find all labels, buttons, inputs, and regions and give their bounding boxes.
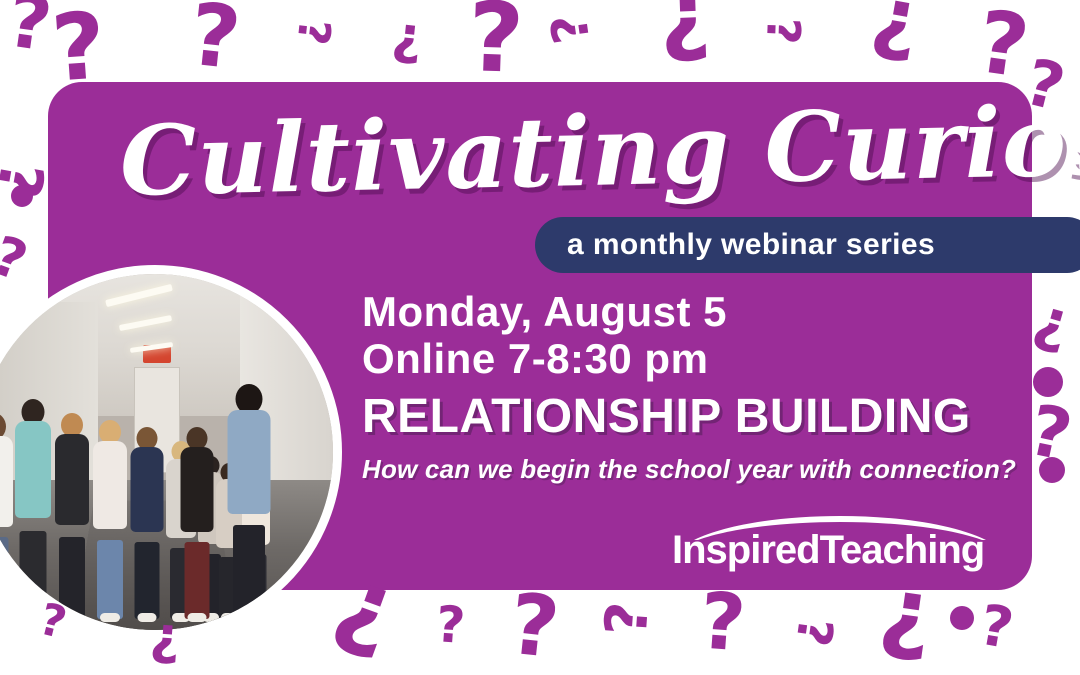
figure-legs — [135, 542, 160, 619]
series-badge-label: a monthly webinar series — [567, 228, 935, 262]
question-mark-icon: ? — [972, 0, 1033, 91]
event-photo — [0, 265, 342, 639]
question-mark-icon: ? — [186, 0, 245, 82]
event-date: Monday, August 5 — [362, 288, 1022, 335]
question-mark-icon: ? — [466, 0, 525, 87]
figure-legs — [59, 537, 85, 620]
event-time: Online 7-8:30 pm — [362, 335, 1022, 382]
question-mark-icon: ? — [658, 0, 712, 71]
event-tagline: How can we begin the school year with co… — [362, 454, 1022, 485]
question-mark-icon: ? — [1027, 296, 1075, 361]
student-figure — [127, 427, 167, 619]
question-mark-icon: ? — [434, 599, 466, 651]
question-mark-icon: ? — [697, 583, 748, 664]
question-mark-icon: ? — [597, 600, 657, 638]
question-mark-icon: ? — [290, 17, 336, 47]
student-figure — [89, 420, 131, 619]
figure-shoes — [0, 613, 5, 622]
figure-legs — [0, 537, 9, 620]
figure-legs — [185, 542, 210, 619]
event-details: Monday, August 5 Online 7-8:30 pm RELATI… — [362, 288, 1022, 485]
dot-accent — [1033, 367, 1063, 397]
poster-canvas: ???????????????? Cultivating Curiosity a… — [0, 0, 1080, 675]
logo-wordmark: InspiredTeaching — [672, 528, 984, 573]
figure-shoes — [187, 613, 207, 622]
question-mark-icon: ? — [0, 158, 52, 203]
question-mark-icon: ? — [975, 598, 1017, 659]
student-figure — [177, 427, 217, 619]
question-mark-icon: ? — [506, 582, 563, 671]
figure-torso — [55, 434, 89, 525]
question-mark-icon: ? — [788, 615, 839, 649]
figure-shoes — [237, 613, 262, 622]
figure-shoes — [137, 613, 157, 622]
figure-torso — [131, 447, 164, 532]
student-figure — [223, 384, 275, 619]
question-mark-icon: ? — [760, 17, 807, 45]
figure-legs — [233, 525, 265, 619]
dot-accent — [11, 185, 33, 207]
figure-torso — [181, 447, 214, 532]
figure-torso — [228, 410, 271, 513]
event-topic: RELATIONSHIP BUILDING — [362, 391, 1022, 444]
figure-shoes — [22, 613, 43, 622]
dot-accent — [950, 606, 974, 630]
question-mark-icon: ? — [3, 0, 56, 63]
student-figure — [51, 413, 93, 619]
figure-torso — [93, 441, 127, 529]
question-mark-icon: ? — [544, 11, 598, 47]
poster-title: Cultivating Curiosity — [119, 87, 961, 218]
figure-torso — [15, 421, 51, 518]
figure-shoes — [100, 613, 120, 622]
figure-legs — [20, 531, 47, 619]
photo-scene — [0, 274, 333, 630]
figure-shoes — [62, 613, 82, 622]
inspired-teaching-logo: InspiredTeaching — [672, 512, 1012, 574]
dot-accent — [1039, 457, 1065, 483]
series-badge: a monthly webinar series — [535, 217, 1080, 273]
question-mark-icon: ? — [389, 15, 424, 70]
figure-legs — [97, 540, 123, 620]
question-mark-icon: ? — [865, 0, 925, 71]
student-figure — [11, 399, 55, 620]
